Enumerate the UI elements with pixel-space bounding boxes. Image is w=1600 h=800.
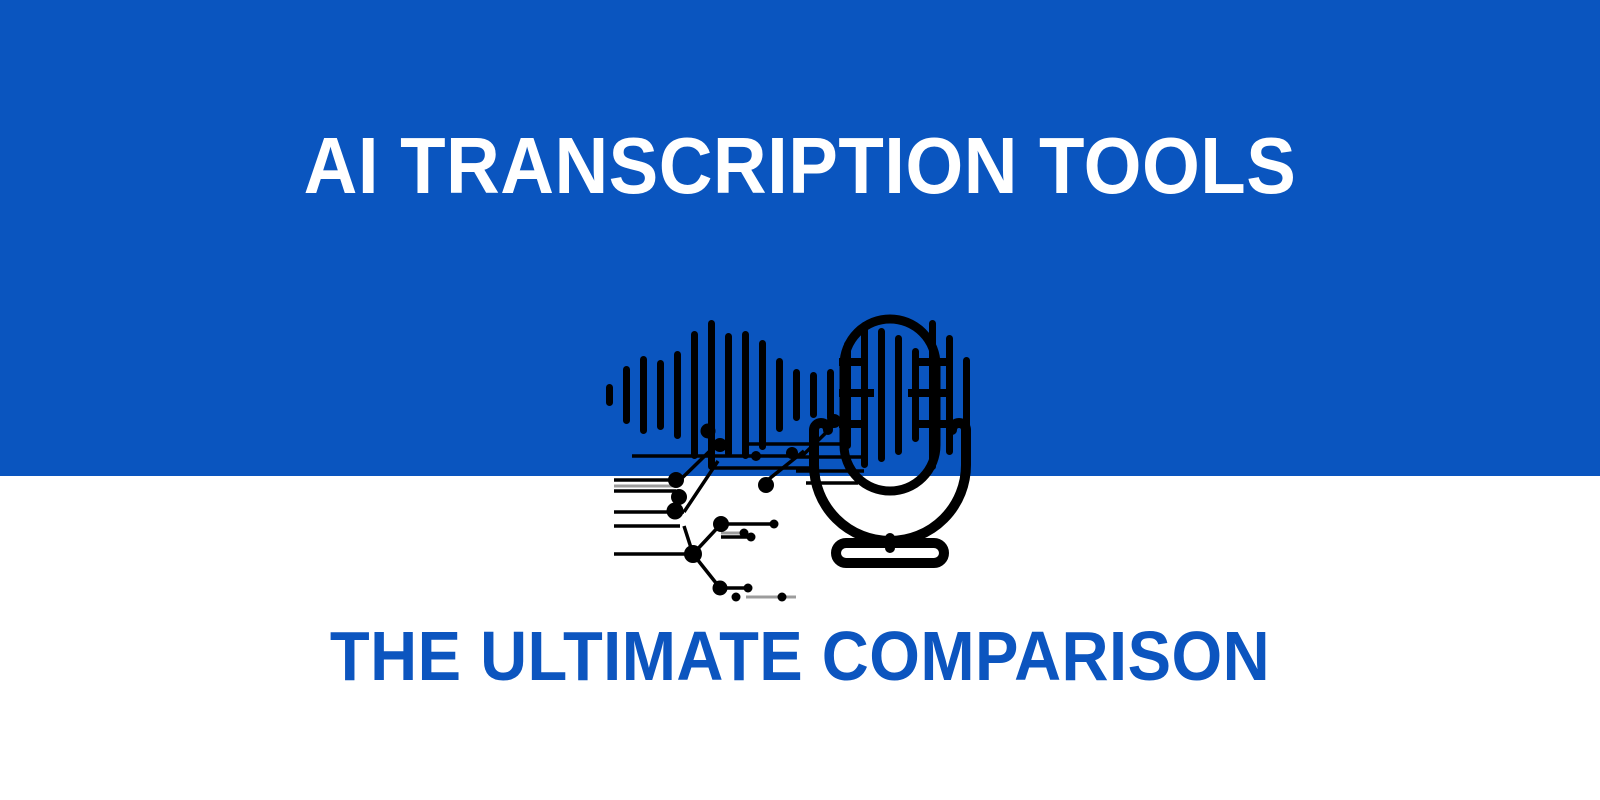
- page-title: AI TRANSCRIPTION TOOLS: [56, 118, 1544, 214]
- poster-canvas: AI TRANSCRIPTION TOOLS: [0, 0, 1600, 800]
- ai-transcription-illustration: [596, 305, 986, 570]
- page-subtitle: THE ULTIMATE COMPARISON: [56, 614, 1544, 698]
- microphone-icon: [814, 319, 966, 563]
